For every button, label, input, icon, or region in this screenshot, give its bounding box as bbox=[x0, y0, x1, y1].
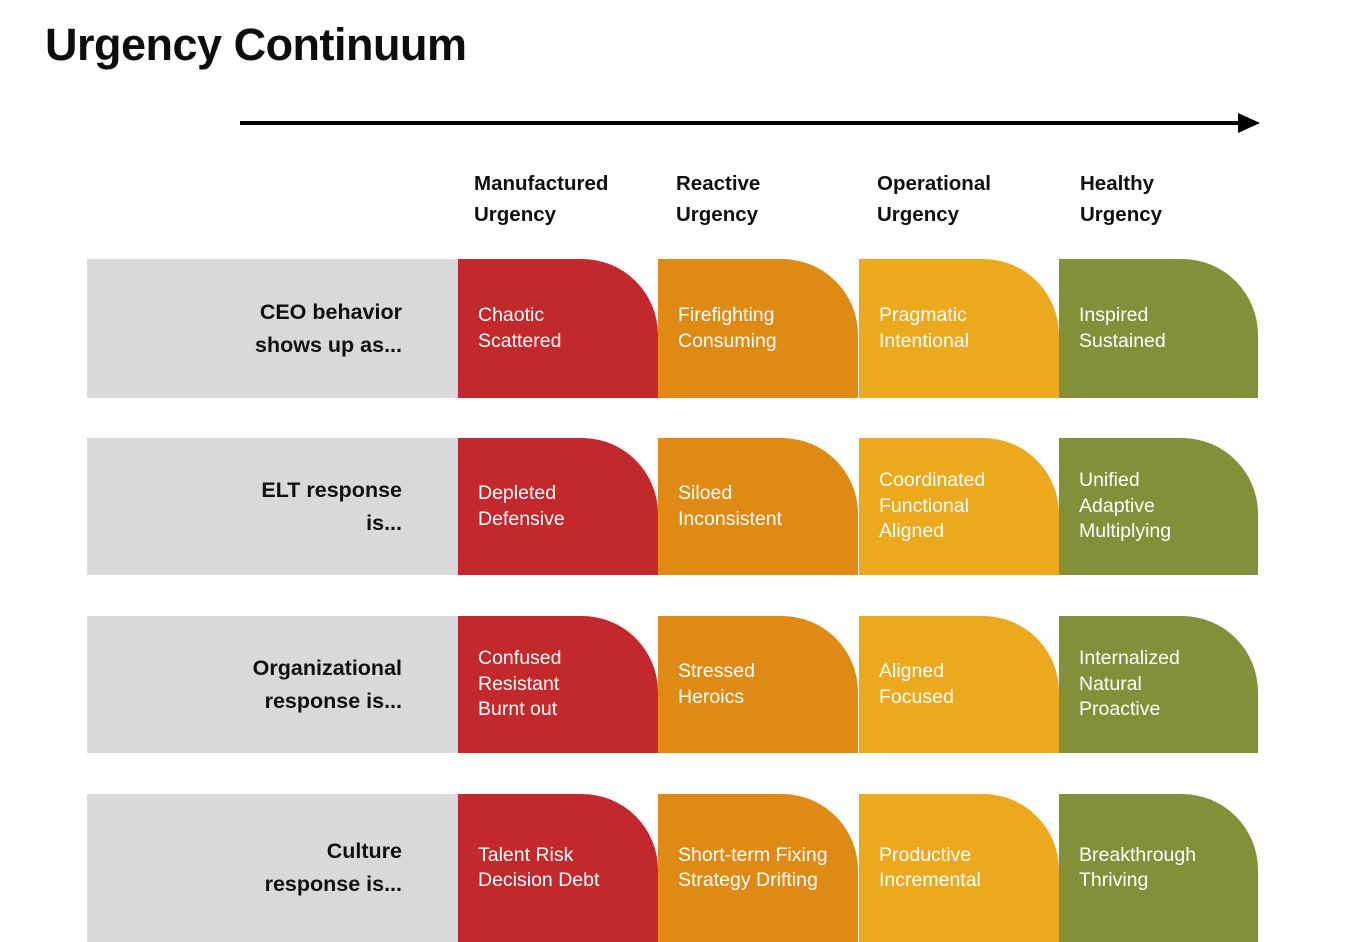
cell-text: Pragmatic Intentional bbox=[859, 303, 979, 354]
cell-text: Coordinated Functional Aligned bbox=[859, 468, 995, 545]
cell-healthy: Unified Adaptive Multiplying bbox=[1059, 438, 1258, 575]
cell-text: Talent Risk Decision Debt bbox=[458, 843, 609, 894]
cell-text: Confused Resistant Burnt out bbox=[458, 646, 571, 723]
cell-text: Depleted Defensive bbox=[458, 481, 575, 532]
cell-manufactured: Chaotic Scattered bbox=[458, 259, 658, 398]
row-label-cell: ELT response is... bbox=[87, 438, 458, 575]
cell-text: Siloed Inconsistent bbox=[658, 481, 792, 532]
urgency-matrix: CEO behavior shows up as...Chaotic Scatt… bbox=[0, 0, 1350, 942]
cell-text: Chaotic Scattered bbox=[458, 303, 571, 354]
cell-text: Productive Incremental bbox=[859, 843, 991, 894]
cell-text: Firefighting Consuming bbox=[658, 303, 787, 354]
cell-healthy: Inspired Sustained bbox=[1059, 259, 1258, 398]
cell-text: Short-term Fixing Strategy Drifting bbox=[658, 843, 838, 894]
cell-healthy: Breakthrough Thriving bbox=[1059, 794, 1258, 942]
cell-healthy: Internalized Natural Proactive bbox=[1059, 616, 1258, 753]
cell-text: Aligned Focused bbox=[859, 659, 964, 710]
cell-reactive: Stressed Heroics bbox=[658, 616, 858, 753]
cell-manufactured: Depleted Defensive bbox=[458, 438, 658, 575]
table-row: Organizational response is...Confused Re… bbox=[0, 616, 1350, 753]
cell-text: Breakthrough Thriving bbox=[1059, 843, 1206, 894]
cell-manufactured: Confused Resistant Burnt out bbox=[458, 616, 658, 753]
cell-operational: Pragmatic Intentional bbox=[859, 259, 1059, 398]
cell-text: Internalized Natural Proactive bbox=[1059, 646, 1190, 723]
table-row: ELT response is...Depleted DefensiveSilo… bbox=[0, 438, 1350, 575]
cell-operational: Aligned Focused bbox=[859, 616, 1059, 753]
cell-text: Stressed Heroics bbox=[658, 659, 765, 710]
cell-operational: Productive Incremental bbox=[859, 794, 1059, 942]
cell-operational: Coordinated Functional Aligned bbox=[859, 438, 1059, 575]
row-label-cell: Culture response is... bbox=[87, 794, 458, 942]
table-row: CEO behavior shows up as...Chaotic Scatt… bbox=[0, 259, 1350, 398]
cell-text: Inspired Sustained bbox=[1059, 303, 1176, 354]
row-label-text: Culture response is... bbox=[265, 835, 402, 901]
row-label-cell: Organizational response is... bbox=[87, 616, 458, 753]
cell-text: Unified Adaptive Multiplying bbox=[1059, 468, 1181, 545]
cell-reactive: Firefighting Consuming bbox=[658, 259, 858, 398]
row-label-text: Organizational response is... bbox=[253, 652, 402, 718]
row-label-cell: CEO behavior shows up as... bbox=[87, 259, 458, 398]
cell-reactive: Short-term Fixing Strategy Drifting bbox=[658, 794, 858, 942]
cell-reactive: Siloed Inconsistent bbox=[658, 438, 858, 575]
cell-manufactured: Talent Risk Decision Debt bbox=[458, 794, 658, 942]
row-label-text: CEO behavior shows up as... bbox=[255, 296, 402, 362]
table-row: Culture response is...Talent Risk Decisi… bbox=[0, 794, 1350, 942]
row-label-text: ELT response is... bbox=[261, 474, 402, 540]
